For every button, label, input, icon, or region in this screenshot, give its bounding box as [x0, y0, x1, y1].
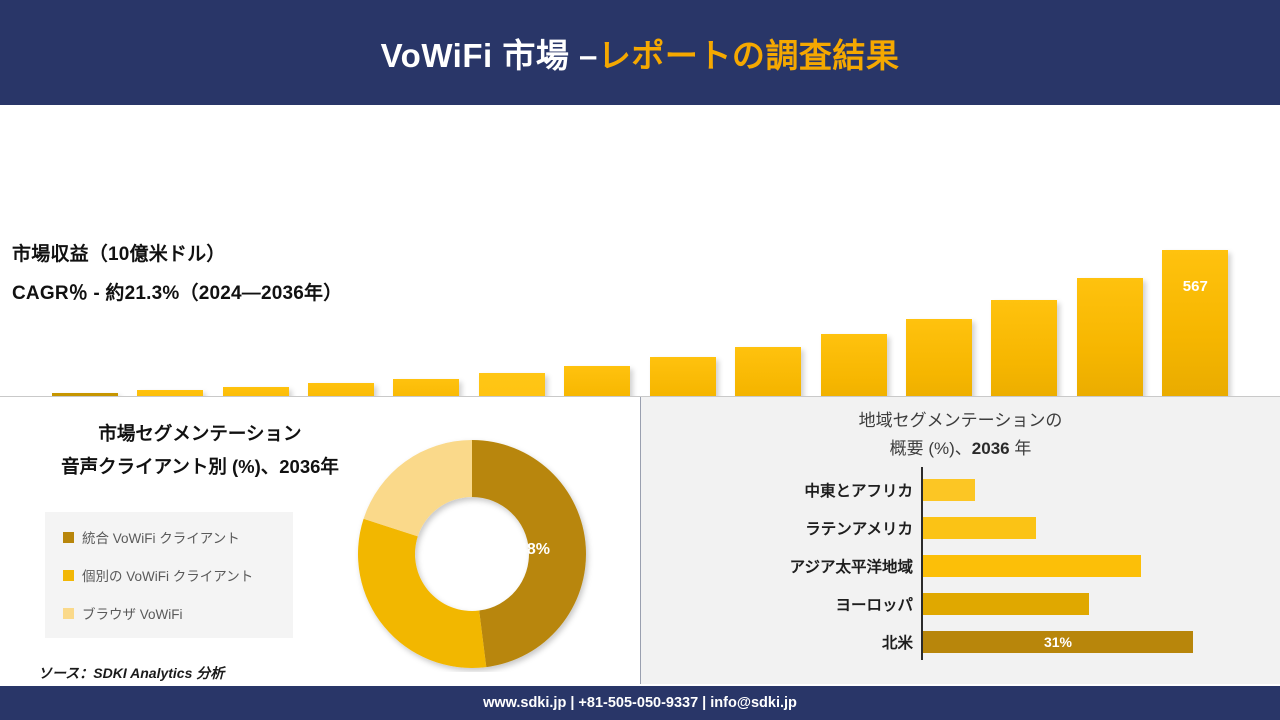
- region-bar[interactable]: [923, 517, 1036, 539]
- legend-item-2[interactable]: ブラウザ VoWiFi: [63, 603, 293, 623]
- revenue-chart-section: 市場収益（10億米ドル） CAGR％ - 約21.3%（2024―2036年） …: [0, 105, 1280, 396]
- region-row[interactable]: ラテンアメリカ: [641, 509, 1280, 547]
- legend-swatch-icon-1: [63, 570, 74, 581]
- legend-item-0[interactable]: 統合 VoWiFi クライアント: [63, 527, 293, 547]
- region-bar[interactable]: 31%: [923, 631, 1193, 653]
- footer-contact-text: www.sdki.jp | +81-505-050-9337 | info@sd…: [483, 695, 797, 711]
- legend-label-2: ブラウザ VoWiFi: [82, 603, 183, 623]
- region-row[interactable]: アジア太平洋地域: [641, 547, 1280, 585]
- page-title-accent: レポートの調査結果: [598, 37, 900, 74]
- donut-slice[interactable]: [364, 440, 472, 536]
- page-header: VoWiFi 市場 –レポートの調査結果: [0, 0, 1280, 105]
- donut-slice[interactable]: [358, 519, 486, 668]
- region-title: 地域セグメンテーションの 概要 (%)、2036 年: [641, 407, 1280, 463]
- region-row[interactable]: 中東とアフリカ: [641, 471, 1280, 509]
- region-label: ラテンアメリカ: [641, 517, 913, 539]
- region-label: アジア太平洋地域: [641, 555, 913, 577]
- region-bar-chart: 中東とアフリカラテンアメリカアジア太平洋地域ヨーロッパ北米31%: [641, 467, 1280, 667]
- infographic-page: VoWiFi 市場 –レポートの調査結果 市場収益（10億米ドル） CAGR％ …: [0, 0, 1280, 720]
- segmentation-panel: 市場セグメンテーション 音声クライアント別 (%)、2036年 統合 VoWiF…: [0, 397, 640, 684]
- region-panel: 地域セグメンテーションの 概要 (%)、2036 年 中東とアフリカラテンアメリ…: [641, 397, 1280, 684]
- donut-chart: 48%: [336, 437, 608, 672]
- region-row[interactable]: 北米31%: [641, 623, 1280, 661]
- region-bar[interactable]: [923, 479, 975, 501]
- source-note: ソース：SDKI Analytics 分析: [38, 663, 224, 683]
- region-bar[interactable]: [923, 593, 1089, 615]
- page-title-primary: VoWiFi 市場 –: [381, 37, 598, 74]
- legend-label-1: 個別の VoWiFi クライアント: [82, 565, 253, 585]
- donut-chart-svg: [336, 437, 608, 672]
- region-bar[interactable]: [923, 555, 1141, 577]
- region-label: 北米: [641, 631, 913, 653]
- region-title-line2-a: 概要 (%)、: [890, 439, 972, 458]
- region-label: 中東とアフリカ: [641, 479, 913, 501]
- region-title-line2: 概要 (%)、2036 年: [641, 435, 1280, 463]
- bar-value-label: 567: [1162, 278, 1228, 295]
- region-row[interactable]: ヨーロッパ: [641, 585, 1280, 623]
- page-footer: www.sdki.jp | +81-505-050-9337 | info@sd…: [0, 686, 1280, 720]
- region-title-line2-c: 年: [1010, 439, 1032, 458]
- legend-swatch-icon-0: [63, 532, 74, 543]
- legend-label-0: 統合 VoWiFi クライアント: [82, 527, 240, 547]
- donut-center-percent: 48%: [518, 541, 550, 559]
- legend-swatch-icon-2: [63, 608, 74, 619]
- region-label: ヨーロッパ: [641, 593, 913, 615]
- page-title: VoWiFi 市場 –レポートの調査結果: [381, 29, 900, 77]
- region-title-year: 2036: [972, 439, 1010, 458]
- legend-item-1[interactable]: 個別の VoWiFi クライアント: [63, 565, 293, 585]
- segmentation-legend: 統合 VoWiFi クライアント 個別の VoWiFi クライアント ブラウザ …: [45, 512, 293, 638]
- region-title-line1: 地域セグメンテーションの: [641, 407, 1280, 435]
- region-bar-value-label: 31%: [1044, 634, 1072, 650]
